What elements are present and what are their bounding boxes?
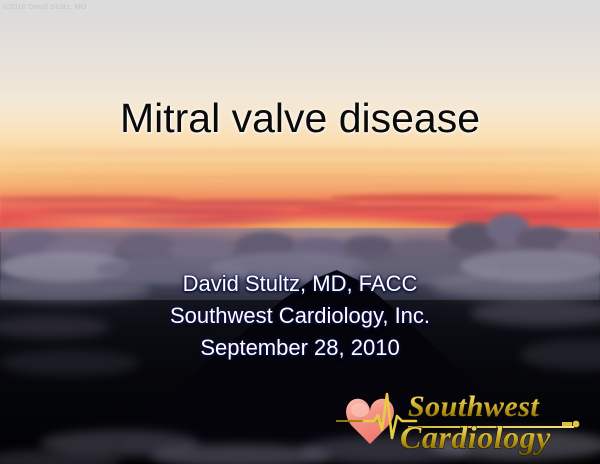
presentation-slide: ©2010 David Stultz, MD Mitral valve dise… [0, 0, 600, 464]
subtitle-author: David Stultz, MD, FACC [0, 268, 600, 300]
subtitle-organization: Southwest Cardiology, Inc. [0, 300, 600, 332]
subtitle-date: September 28, 2010 [0, 332, 600, 364]
slide-subtitle: David Stultz, MD, FACC Southwest Cardiol… [0, 268, 600, 364]
copyright-notice: ©2010 David Stultz, MD [3, 2, 86, 12]
slide-title: Mitral valve disease [0, 94, 600, 142]
southwest-cardiology-logo: Southwest Cardiology [336, 386, 600, 464]
logo-word-bottom: Cardiology [400, 419, 551, 455]
